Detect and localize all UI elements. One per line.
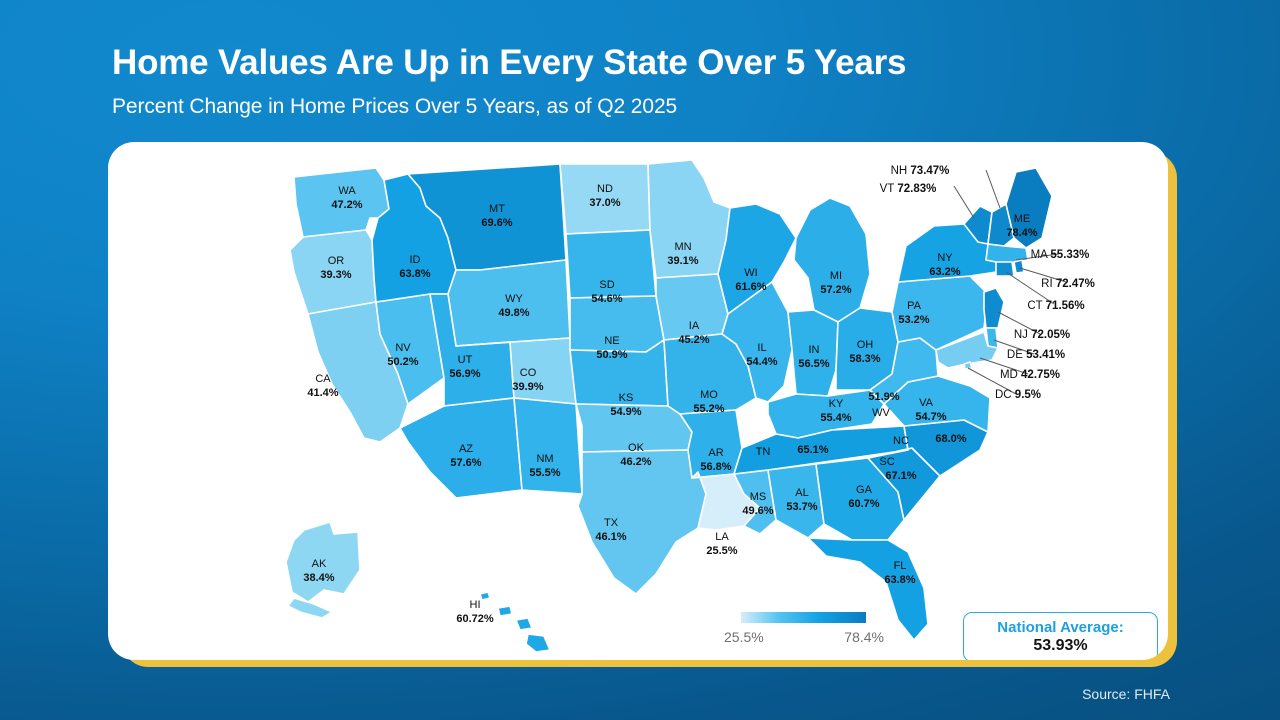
state-ct[interactable] (996, 262, 1014, 276)
callout-ct-abbr: CT (1027, 300, 1042, 312)
label-ne-abbr: NE (604, 335, 619, 347)
header: Home Values Are Up in Every State Over 5… (112, 42, 1172, 119)
label-wa-value: 47.2% (331, 199, 362, 211)
callout-ma-value: 55.33% (1050, 249, 1089, 261)
callout-nh-abbr: NH (891, 165, 908, 177)
label-ca-abbr: CA (315, 373, 331, 385)
label-hi-abbr: HI (470, 599, 481, 611)
color-scale-legend: 25.5% 78.4% (741, 612, 884, 645)
label-ia-abbr: IA (689, 320, 700, 332)
callout-nj: NJ 72.05% (1014, 329, 1070, 341)
label-sc-value: 67.1% (885, 470, 916, 482)
callout-nj-value: 72.05% (1031, 329, 1070, 341)
callout-nj-abbr: NJ (1014, 329, 1028, 341)
state-hi-4[interactable] (526, 634, 550, 652)
callout-ma: MA 55.33% (1031, 249, 1090, 261)
callout-ct: CT 71.56% (1027, 300, 1084, 312)
callout-ri-value: 72.47% (1056, 278, 1095, 290)
leader-vt (954, 186, 974, 218)
callout-dc-value: 9.5% (1015, 389, 1041, 401)
label-mo-value: 55.2% (693, 403, 724, 415)
label-wv-value: 51.9% (868, 391, 899, 403)
label-pa-abbr: PA (907, 300, 922, 312)
label-fl-value: 63.8% (884, 574, 915, 586)
label-la-abbr: LA (715, 531, 729, 543)
label-ut-abbr: UT (458, 354, 473, 366)
label-wi-abbr: WI (744, 267, 757, 279)
leader-nh (986, 170, 1000, 208)
label-wy-value: 49.8% (498, 307, 529, 319)
national-average-label: National Average: (997, 619, 1123, 636)
label-mo-abbr: MO (700, 389, 718, 401)
label-va-value: 54.7% (915, 411, 946, 423)
state-tx[interactable] (578, 450, 706, 594)
label-co-abbr: CO (520, 367, 537, 379)
label-in-abbr: IN (809, 344, 820, 356)
label-nm-value: 55.5% (529, 467, 560, 479)
label-wa-abbr: WA (338, 185, 356, 197)
label-or-abbr: OR (328, 255, 345, 267)
label-nv-value: 50.2% (387, 356, 418, 368)
callout-nh-value: 73.47% (910, 165, 949, 177)
label-wv-abbr: WV (872, 407, 890, 419)
label-mn-abbr: MN (674, 241, 691, 253)
callout-vt: VT 72.83% (880, 183, 937, 195)
label-az-abbr: AZ (459, 443, 473, 455)
label-nc-value: 68.0% (935, 433, 966, 445)
label-ok-abbr: OK (628, 442, 645, 454)
label-ms-value: 49.6% (742, 505, 773, 517)
label-ga-abbr: GA (856, 484, 873, 496)
label-sd-value: 54.6% (591, 293, 622, 305)
label-in-value: 56.5% (798, 358, 829, 370)
label-tn-abbr: TN (756, 446, 771, 458)
label-il-value: 54.4% (746, 356, 777, 368)
state-hi-3[interactable] (516, 618, 532, 630)
callout-vt-abbr: VT (880, 183, 895, 195)
callout-md: MD 42.75% (1000, 369, 1060, 381)
callout-de-value: 53.41% (1026, 349, 1065, 361)
label-tn-value: 65.1% (797, 444, 828, 456)
label-nd-value: 37.0% (589, 197, 620, 209)
label-tx-value: 46.1% (595, 531, 626, 543)
label-fl-abbr: FL (894, 560, 907, 572)
national-average-box: National Average: 53.93% (963, 612, 1158, 660)
legend-min-label: 25.5% (724, 629, 764, 645)
label-mn-value: 39.1% (667, 255, 698, 267)
state-nj[interactable] (984, 288, 1004, 328)
callout-nh: NH 73.47% (891, 165, 950, 177)
label-co-value: 39.9% (512, 381, 543, 393)
label-tx-abbr: TX (604, 517, 619, 529)
label-ia-value: 45.2% (678, 334, 709, 346)
callout-dc-abbr: DC (995, 389, 1012, 401)
callout-de: DE 53.41% (1007, 349, 1065, 361)
callout-ma-abbr: MA (1031, 249, 1049, 261)
label-mi-value: 57.2% (820, 284, 851, 296)
label-nv-abbr: NV (395, 342, 411, 354)
label-oh-abbr: OH (857, 339, 874, 351)
label-ca-value: 41.4% (307, 387, 338, 399)
label-ms-abbr: MS (750, 491, 767, 503)
page-title: Home Values Are Up in Every State Over 5… (112, 42, 1172, 83)
callout-ri: RI 72.47% (1041, 278, 1095, 290)
state-dc[interactable] (964, 362, 972, 369)
callout-vt-value: 72.83% (897, 183, 936, 195)
label-ks-abbr: KS (619, 392, 634, 404)
label-ut-value: 56.9% (449, 368, 480, 380)
legend-gradient-bar (741, 612, 866, 623)
label-mt-value: 69.6% (481, 217, 512, 229)
callout-md-value: 42.75% (1021, 369, 1060, 381)
state-nm[interactable] (514, 398, 582, 494)
label-va-abbr: VA (919, 397, 934, 409)
label-al-abbr: AL (795, 487, 808, 499)
label-oh-value: 58.3% (849, 353, 880, 365)
label-mt-abbr: MT (489, 203, 505, 215)
label-sd-abbr: SD (599, 279, 614, 291)
us-map-svg: WA 47.2% OR 39.3% CA 41.4% NV 50.2% ID 6… (108, 142, 1168, 660)
label-nd-abbr: ND (597, 183, 613, 195)
label-or-value: 39.3% (320, 269, 351, 281)
label-ga-value: 60.7% (848, 498, 879, 510)
callout-md-abbr: MD (1000, 369, 1018, 381)
label-pa-value: 53.2% (898, 314, 929, 326)
legend-max-label: 78.4% (844, 629, 884, 645)
label-ks-value: 54.9% (610, 406, 641, 418)
label-me-abbr: ME (1014, 213, 1031, 225)
state-shapes (286, 160, 1052, 652)
label-id-abbr: ID (410, 254, 421, 266)
label-ak-abbr: AK (312, 558, 327, 570)
label-ak-value: 38.4% (303, 572, 334, 584)
label-mi-abbr: MI (830, 270, 842, 282)
label-ny-abbr: NY (937, 252, 953, 264)
label-az-value: 57.6% (450, 457, 481, 469)
label-nc-abbr: NC (893, 435, 909, 447)
state-hi[interactable] (480, 592, 490, 600)
label-hi-value: 60.72% (456, 613, 494, 625)
state-hi-2[interactable] (498, 606, 512, 616)
label-al-value: 53.7% (786, 501, 817, 513)
label-me-value: 78.4% (1006, 227, 1037, 239)
national-average-value: 53.93% (1033, 637, 1087, 655)
label-ky-abbr: KY (829, 398, 844, 410)
label-ok-value: 46.2% (620, 456, 651, 468)
label-il-abbr: IL (757, 342, 766, 354)
label-id-value: 63.8% (399, 268, 430, 280)
choropleth-map: WA 47.2% OR 39.3% CA 41.4% NV 50.2% ID 6… (108, 142, 1168, 660)
label-ny-value: 63.2% (929, 266, 960, 278)
state-ri[interactable] (1014, 260, 1024, 273)
source-attribution: Source: FHFA (1082, 686, 1170, 702)
label-ar-value: 56.8% (700, 461, 731, 473)
page-subtitle: Percent Change in Home Prices Over 5 Yea… (112, 95, 1172, 119)
map-card: WA 47.2% OR 39.3% CA 41.4% NV 50.2% ID 6… (108, 142, 1168, 660)
label-la-value: 25.5% (706, 545, 737, 557)
label-sc-abbr: SC (879, 456, 894, 468)
label-wi-value: 61.6% (735, 281, 766, 293)
label-nm-abbr: NM (536, 453, 553, 465)
callout-ct-value: 71.56% (1046, 300, 1085, 312)
callout-ri-abbr: RI (1041, 278, 1053, 290)
callout-de-abbr: DE (1007, 349, 1023, 361)
callout-dc: DC 9.5% (995, 389, 1041, 401)
label-wy-abbr: WY (505, 293, 523, 305)
legend-tick-labels: 25.5% 78.4% (724, 629, 884, 645)
label-ne-value: 50.9% (596, 349, 627, 361)
label-ky-value: 55.4% (820, 412, 851, 424)
label-ar-abbr: AR (708, 447, 723, 459)
state-mi[interactable] (794, 198, 870, 322)
